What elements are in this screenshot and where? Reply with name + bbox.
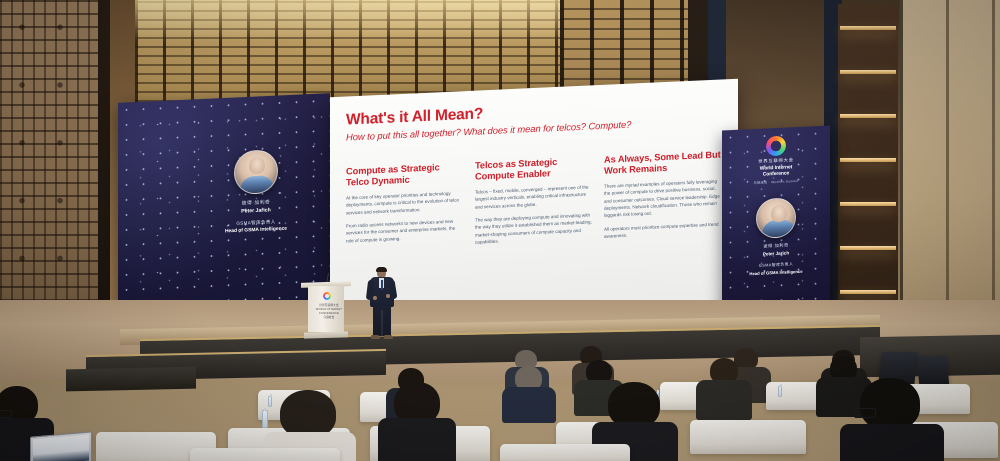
head <box>280 390 336 438</box>
body <box>696 380 752 420</box>
laptop <box>30 431 92 461</box>
slide-column-2: Telcos as Strategic Compute Enabler Telc… <box>475 156 593 252</box>
body <box>840 424 944 461</box>
audience-chair <box>190 448 340 461</box>
eyeglasses <box>0 410 12 418</box>
presenter-shoe-right <box>384 335 393 339</box>
podium-text-line-2: WORLD INTERNET CONFERENCE <box>315 308 343 316</box>
podium-signage: 世界互联网大会 WORLD INTERNET CONFERENCE 乌镇峰会 <box>315 304 343 320</box>
conference-emblem-icon <box>323 292 331 300</box>
column-paragraph: All operators must prioritize compute ex… <box>604 220 722 240</box>
presenter-shoe-left <box>371 335 380 339</box>
eyeglasses <box>854 408 876 418</box>
column-paragraph: At the core of key operator priorities a… <box>346 189 464 216</box>
presenter-legs <box>373 306 391 336</box>
laptop-screen <box>33 435 89 461</box>
conference-emblem-icon <box>766 136 786 157</box>
ceiling-uplight-glow <box>135 0 575 42</box>
podium-body: 世界互联网大会 WORLD INTERNET CONFERENCE 乌镇峰会 <box>308 286 344 332</box>
water-bottle <box>778 386 782 397</box>
avatar <box>234 149 278 195</box>
column-paragraph: From radio access networks to new device… <box>346 217 464 244</box>
column-heading: Telcos as Strategic Compute Enabler <box>475 156 593 183</box>
audience-chair <box>690 420 806 454</box>
column-paragraph: The way they are deploying compute and i… <box>475 211 593 246</box>
audience-chair <box>500 444 630 461</box>
avatar <box>756 197 796 239</box>
conference-scene: 彼得·加利奇 Peter Jarich GSMA智库负责人 Head of GS… <box>0 0 1000 461</box>
column-heading: Compute as Strategic Telco Dynamic <box>346 161 464 188</box>
podium-base <box>304 331 348 338</box>
column-paragraph: There are myriad examples of operators f… <box>604 177 722 219</box>
podium: 世界互联网大会 WORLD INTERNET CONFERENCE 乌镇峰会 <box>305 282 347 340</box>
body <box>502 387 556 423</box>
display-shelf-unit <box>838 4 898 334</box>
column-heading: As Always, Some Lead But Work Remains <box>604 150 722 177</box>
slide-columns: Compute as Strategic Telco Dynamic At th… <box>346 150 724 258</box>
presenter-tie <box>381 280 384 290</box>
presenter-figure <box>365 268 399 342</box>
slide-column-1: Compute as Strategic Telco Dynamic At th… <box>346 161 464 257</box>
slide-column-3: As Always, Some Lead But Work Remains Th… <box>604 150 722 246</box>
head <box>860 378 920 430</box>
water-bottle <box>268 396 272 407</box>
presenter-hair <box>376 267 387 272</box>
water-bottle <box>262 410 268 428</box>
ornate-wall-panel-left <box>0 0 100 340</box>
presenter-hand-left <box>373 296 377 300</box>
presenter-hand-right <box>386 294 390 298</box>
audience-seating <box>0 352 1000 461</box>
column-paragraph: Telcos – fixed, mobile, converged – repr… <box>475 183 593 210</box>
world-internet-conference-logo: 世界互联网大会 World Internet Conference 乌镇峰会 ·… <box>722 134 830 187</box>
body <box>378 418 456 461</box>
speaker-card-left: 彼得·加利奇 Peter Jarich GSMA智库负责人 Head of GS… <box>186 147 326 285</box>
podium-text-line-3: 乌镇峰会 <box>315 316 343 320</box>
display-monitor <box>917 356 950 386</box>
